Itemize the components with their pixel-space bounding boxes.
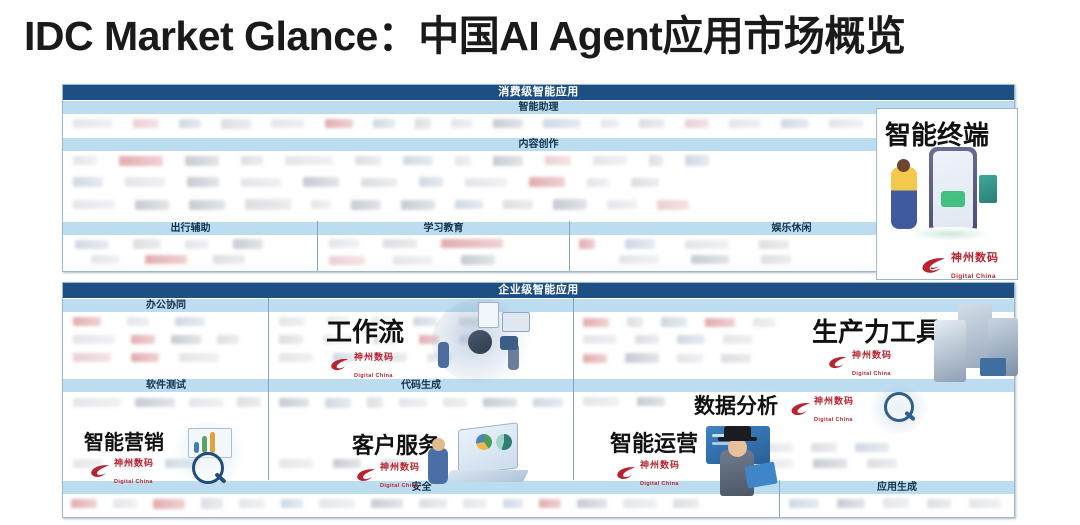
vendor-logo: [119, 156, 163, 166]
vendor-logo: [583, 397, 619, 406]
vendor-logo: [625, 239, 655, 249]
vendor-logo: [883, 498, 909, 508]
vendor-logo: [443, 398, 467, 407]
vendor-logo: [593, 156, 627, 165]
vendor-logo: [325, 119, 353, 128]
digital-china-mark-icon: [356, 468, 376, 481]
vendor-logo: [601, 119, 619, 128]
vendor-logo: [185, 240, 209, 249]
vendor-logo: [319, 499, 355, 508]
vendor-logo: [145, 255, 187, 264]
brand-logo-workflow: 神州数码 Digital China: [330, 348, 394, 382]
vendor-logo: [419, 177, 443, 187]
vendor-logo: [325, 398, 351, 408]
vendor-logo: [373, 119, 395, 128]
vendor-logo: [461, 255, 495, 265]
vendor-logo: [329, 239, 359, 248]
vendor-logo: [545, 156, 571, 165]
vendor-logo: [493, 119, 523, 128]
workflow-node-doc: [478, 302, 499, 328]
vendor-logo: [677, 335, 705, 344]
vendor-logo: [189, 398, 223, 407]
vendor-logo: [661, 317, 687, 327]
brand-logo-customer-service: 神州数码 Digital China: [356, 458, 420, 492]
vendor-logo: [721, 354, 751, 363]
logo-row-travel-assist-2: [91, 255, 305, 264]
column-divider: [573, 298, 574, 378]
logo-row-content-creation-1: [73, 155, 1004, 166]
vendor-logo: [241, 178, 281, 187]
vendor-logo: [583, 318, 609, 327]
vendor-logo: [73, 177, 103, 187]
vendor-logo: [279, 353, 313, 362]
vendor-logo: [685, 155, 709, 166]
section-header-enterprise: 企业级智能应用: [63, 283, 1014, 298]
vendor-logo: [217, 335, 239, 344]
vendor-logo: [279, 459, 313, 468]
vendor-logo: [189, 200, 225, 210]
marketing-bar-3: [210, 432, 215, 453]
column-divider: [573, 430, 574, 480]
vendor-logo: [729, 119, 761, 128]
vendor-logo: [71, 499, 97, 508]
subheader-travel-assist: 出行辅助: [63, 221, 318, 236]
operations-tablet: [744, 462, 777, 489]
vendor-logo: [73, 317, 101, 326]
customer-service-chart-donut: [496, 434, 512, 450]
brand-name-en: Digital China: [114, 479, 153, 485]
logo-row-office-1: [73, 317, 263, 326]
vendor-logo: [351, 200, 381, 210]
vendor-logo: [583, 335, 617, 344]
vendor-logo: [221, 119, 251, 129]
customer-service-person: [428, 448, 448, 484]
vendor-logo: [393, 256, 433, 265]
vendor-logo: [383, 239, 417, 248]
digital-china-mark-icon: [790, 402, 810, 415]
vendor-logo: [73, 353, 111, 362]
digital-china-mark-icon: [330, 358, 350, 371]
logo-row-productivity-2: [583, 335, 823, 344]
brand-logo-productivity: 神州数码 Digital China: [828, 346, 892, 380]
vendor-logo: [91, 255, 119, 264]
marketing-bar-1: [194, 442, 199, 453]
smart-terminal-accent: [941, 191, 965, 207]
brand-name-cn: 神州数码: [380, 462, 420, 472]
callout-smart-terminal: 智能终端 神州数码 Digital China: [876, 108, 1018, 280]
vendor-logo: [285, 156, 333, 165]
brand-name-cn: 神州数码: [814, 396, 854, 406]
subheader-office-collaboration: 办公协同: [63, 298, 269, 313]
vendor-logo: [451, 119, 473, 128]
vendor-logo: [171, 335, 201, 344]
vendor-logo: [239, 499, 265, 508]
brand-name-en: Digital China: [852, 371, 891, 377]
vendor-logo: [279, 398, 309, 407]
vendor-logo: [685, 240, 729, 249]
callout-label-productivity-tools: 生产力工具: [812, 312, 942, 349]
customer-service-person-head: [432, 438, 445, 451]
callout-label-smart-operations: 智能运营: [610, 426, 698, 458]
vendor-logo: [761, 255, 791, 264]
brand-wordmark: 神州数码 Digital China: [354, 348, 394, 382]
vendor-logo: [135, 200, 169, 210]
logo-row-productivity-3: [583, 353, 823, 363]
vendor-logo: [553, 199, 587, 210]
logo-row-software-testing: [73, 397, 263, 407]
logo-row-code-generation: [279, 397, 565, 408]
vendor-logo: [73, 335, 115, 344]
vendor-logo: [625, 353, 659, 363]
logo-row-productivity-1: [583, 317, 823, 327]
page-title: IDC Market Glance：中国AI Agent应用市场概览: [24, 14, 1064, 59]
vendor-logo: [691, 255, 729, 264]
vendor-logo: [631, 178, 659, 187]
callout-label-data-analysis: 数据分析: [694, 390, 778, 420]
operations-person-hat-brim: [718, 437, 757, 441]
vendor-logo: [401, 200, 435, 210]
digital-china-mark-icon: [90, 464, 110, 477]
server-rack-front: [934, 320, 966, 382]
vendor-logo: [237, 397, 261, 407]
vendor-logo: [131, 335, 155, 344]
vendor-logo: [829, 119, 863, 128]
digital-china-mark-icon: [616, 466, 636, 479]
brand-wordmark: 神州数码 Digital China: [814, 392, 854, 426]
brand-name-cn: 神州数码: [852, 350, 892, 360]
vendor-logo: [627, 317, 643, 327]
vendor-logo: [529, 177, 565, 187]
vendor-logo: [503, 200, 533, 209]
vendor-logo: [279, 335, 303, 344]
brand-wordmark: 神州数码 Digital China: [951, 249, 999, 283]
vendor-logo: [867, 459, 897, 468]
vendor-logo: [133, 119, 159, 128]
vendor-logo: [187, 177, 219, 187]
callout-label-customer-service: 客户服务: [352, 428, 440, 460]
vendor-logo: [213, 255, 245, 264]
logo-row-content-creation-3: [73, 199, 1004, 210]
vendor-logo: [303, 177, 339, 187]
logo-row-office-3: [73, 353, 263, 362]
section-consumer: 消费级智能应用 智能助理: [62, 84, 1015, 272]
callout-smart-marketing: 智能营销 神州数码 Digital China: [84, 426, 284, 498]
vendor-logo: [577, 499, 607, 508]
callout-label-workflow: 工作流: [326, 312, 404, 349]
brand-wordmark: 神州数码 Digital China: [380, 458, 420, 492]
vendor-logo: [179, 119, 201, 128]
brand-wordmark: 神州数码 Digital China: [114, 454, 154, 488]
brand-wordmark: 神州数码 Digital China: [852, 346, 892, 380]
vendor-logo: [73, 200, 115, 209]
workflow-node-person-a: [438, 342, 449, 368]
vendor-logo: [241, 156, 263, 165]
customer-service-base: [445, 470, 529, 482]
workflow-node-center: [468, 330, 492, 354]
vendor-logo: [969, 499, 1001, 508]
brand-name-cn: 神州数码: [640, 460, 680, 470]
vendor-logo: [685, 119, 709, 128]
subheader-software-testing: 软件测试: [63, 378, 269, 393]
vendor-logo: [75, 240, 109, 249]
customer-service-chart-pie: [476, 434, 492, 450]
vendor-logo: [179, 353, 219, 362]
customer-service-laptop: [458, 422, 518, 475]
brand-wordmark: 神州数码 Digital China: [640, 456, 680, 490]
column-divider: [268, 378, 269, 430]
vendor-logo: [399, 398, 427, 407]
vendor-logo: [185, 156, 219, 166]
vendor-logo: [329, 256, 365, 265]
logo-row-office-2: [73, 335, 263, 344]
marketing-bar-2: [202, 436, 207, 453]
vendor-logo: [723, 335, 753, 344]
digital-china-mark-icon: [828, 356, 848, 369]
workflow-node-monitor: [502, 312, 530, 332]
logo-row-travel-assist: [75, 239, 305, 249]
column-divider: [573, 378, 574, 430]
vendor-logo: [455, 156, 471, 166]
vendor-logo: [201, 498, 223, 509]
brand-logo-marketing: 神州数码 Digital China: [90, 454, 154, 488]
vendor-logo: [131, 353, 159, 362]
vendor-logo: [73, 119, 113, 128]
vendor-logo: [855, 443, 889, 452]
vendor-logo: [113, 499, 137, 508]
vendor-logo: [271, 119, 305, 128]
vendor-logo: [583, 354, 607, 363]
vendor-logo: [415, 118, 431, 129]
logo-row-smart-assistant: [73, 118, 1004, 129]
column-divider: [569, 221, 570, 271]
vendor-logo: [579, 239, 595, 249]
vendor-logo: [705, 318, 735, 327]
callout-customer-service: 客户服务 神州数码 Digital China: [352, 428, 572, 504]
vendor-logo: [455, 200, 483, 209]
brand-name-en: Digital China: [640, 481, 679, 487]
vendor-logo: [175, 317, 205, 326]
callout-workflow: 工作流 神州数码 Digital China: [326, 306, 536, 384]
brand-name-cn: 神州数码: [951, 252, 999, 264]
vendor-logo: [837, 499, 865, 508]
vendor-logo: [367, 397, 383, 408]
brand-name-en: Digital China: [354, 373, 393, 379]
callout-label-smart-marketing: 智能营销: [84, 426, 164, 455]
vendor-logo: [927, 499, 951, 508]
vendor-logo: [281, 499, 303, 508]
brand-name-en: Digital China: [951, 273, 996, 280]
vendor-logo: [135, 398, 175, 407]
vendor-logo: [465, 178, 507, 187]
vendor-logo: [493, 156, 523, 166]
vendor-logo: [657, 200, 689, 210]
smart-terminal-person: [891, 167, 917, 229]
vendor-logo: [637, 397, 665, 406]
vendor-logo: [441, 239, 503, 248]
smart-terminal-base: [909, 227, 991, 241]
brand-name-en: Digital China: [380, 483, 419, 489]
vendor-logo: [587, 178, 609, 187]
logo-row-learning-education-2: [329, 255, 557, 265]
smart-terminal-cube: [979, 175, 997, 203]
vendor-logo: [73, 156, 97, 165]
vendor-logo: [127, 317, 149, 326]
vendor-logo: [153, 499, 185, 509]
brand-name-cn: 神州数码: [114, 458, 154, 468]
callout-smart-operations: 智能运营 神州数码 Digital China: [610, 424, 820, 504]
vendor-logo: [361, 178, 397, 187]
logo-row-app-generation: [789, 498, 1006, 508]
brand-logo-operations: 神州数码 Digital China: [616, 456, 680, 490]
brand-name-cn: 神州数码: [354, 352, 394, 362]
vendor-logo: [311, 200, 331, 209]
brand-logo-smart-terminal: 神州数码 Digital China: [921, 249, 999, 283]
vendor-logo: [635, 335, 659, 344]
vendor-logo: [639, 119, 665, 128]
vendor-logo: [753, 318, 775, 327]
workflow-node-chip: [500, 336, 518, 350]
vendor-logo: [759, 240, 789, 249]
vendor-logo: [607, 200, 637, 209]
column-divider: [317, 221, 318, 271]
vendor-logo: [233, 239, 263, 249]
column-divider: [268, 298, 269, 378]
logo-row-learning-education: [329, 239, 557, 248]
vendor-logo: [543, 119, 581, 128]
vendor-logo: [245, 199, 291, 210]
vendor-logo: [483, 398, 517, 407]
vendor-logo: [279, 317, 305, 326]
vendor-logo: [73, 398, 121, 407]
slide-canvas: IDC Market Glance：中国AI Agent应用市场概览 消费级智能…: [0, 0, 1080, 525]
vendor-logo: [649, 155, 663, 166]
smart-terminal-person-head: [897, 159, 910, 172]
brand-logo-data-analysis: 神州数码 Digital China: [790, 392, 854, 426]
brand-name-en: Digital China: [814, 417, 853, 423]
vendor-logo: [125, 177, 165, 187]
subheader-learning-education: 学习教育: [318, 221, 569, 236]
vendor-logo: [619, 255, 659, 264]
vendor-logo: [403, 156, 433, 165]
vendor-logo: [533, 398, 563, 407]
section-header-consumer: 消费级智能应用: [63, 85, 1014, 100]
vendor-logo: [133, 239, 161, 249]
vendor-logo: [355, 156, 381, 165]
callout-productivity-tools: 生产力工具 神州数码 Digital China: [812, 308, 1062, 388]
digital-china-mark-icon: [921, 257, 947, 274]
subheader-smart-assistant: 智能助理: [63, 100, 1014, 115]
subheader-content-creation: 内容创作: [63, 137, 1014, 152]
vendor-logo: [781, 119, 809, 128]
logo-row-content-creation-2: [73, 177, 1004, 187]
vendor-logo: [677, 354, 703, 363]
server-terminal: [980, 358, 1006, 376]
